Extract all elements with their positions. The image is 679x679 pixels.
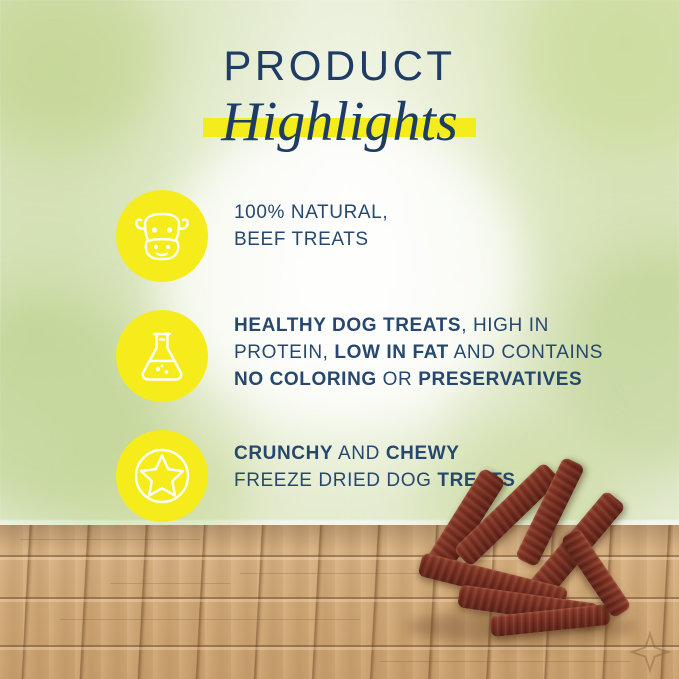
emphasis: CRUNCHY bbox=[234, 443, 333, 464]
list-item-line: HEALTHY DOG TREATS, HIGH IN bbox=[234, 313, 603, 340]
emphasis: PRESERVATIVES bbox=[418, 369, 582, 390]
plain: AND bbox=[333, 443, 386, 464]
wood-grain bbox=[110, 583, 230, 584]
list-item-line: NO COLORING OR PRESERVATIVES bbox=[234, 367, 603, 394]
list-item-line: PROTEIN, LOW IN FAT AND CONTAINS bbox=[234, 340, 603, 367]
plain: OR bbox=[377, 369, 418, 390]
product-highlights-image: PRODUCT Highlights bbox=[0, 0, 679, 679]
list-item-line: CRUNCHY AND CHEWY bbox=[234, 441, 516, 468]
page-title: PRODUCT Highlights bbox=[0, 44, 679, 154]
headline-line-2: Highlights bbox=[215, 92, 463, 154]
wood-grain bbox=[60, 619, 360, 620]
badge-star bbox=[116, 430, 208, 522]
emphasis: NO COLORING bbox=[234, 369, 377, 390]
list-item: 100% NATURAL, BEEF TREATS bbox=[116, 190, 636, 282]
flask-icon bbox=[136, 328, 188, 384]
list-item-text: HEALTHY DOG TREATS, HIGH IN PROTEIN, LOW… bbox=[234, 310, 603, 394]
headline-line-1: PRODUCT bbox=[0, 44, 679, 88]
emphasis: HEALTHY DOG TREATS bbox=[234, 315, 461, 336]
list-item-line: BEEF TREATS bbox=[234, 227, 388, 254]
list-item-line: 100% NATURAL, bbox=[234, 200, 388, 227]
plain: PROTEIN, bbox=[234, 342, 334, 363]
list-item: HEALTHY DOG TREATS, HIGH IN PROTEIN, LOW… bbox=[116, 310, 636, 402]
list-item-text: 100% NATURAL, BEEF TREATS bbox=[234, 190, 388, 254]
cow-head-icon bbox=[133, 210, 191, 262]
badge-flask bbox=[116, 310, 208, 402]
plain: FREEZE DRIED DOG bbox=[234, 470, 437, 491]
emphasis: CHEWY bbox=[386, 443, 460, 464]
corner-watermark-icon bbox=[627, 629, 673, 675]
plain: AND CONTAINS bbox=[449, 342, 603, 363]
wood-grain bbox=[20, 539, 200, 540]
plain: , HIGH IN bbox=[461, 315, 549, 336]
star-badge-icon bbox=[133, 447, 191, 505]
freeze-dried-beef-treats bbox=[398, 498, 660, 666]
badge-cow bbox=[116, 190, 208, 282]
headline-highlight-wrap: Highlights bbox=[215, 92, 463, 154]
emphasis: LOW IN FAT bbox=[334, 342, 448, 363]
